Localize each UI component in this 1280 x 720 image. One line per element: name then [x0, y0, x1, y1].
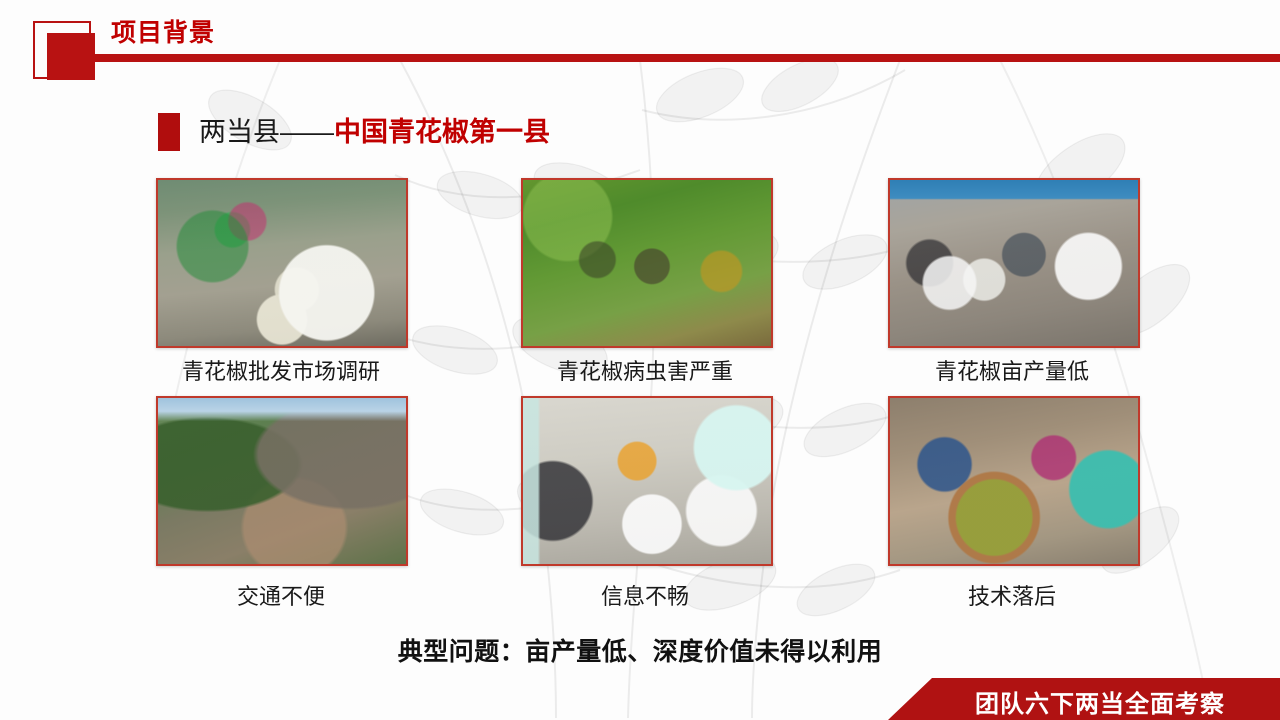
subtitle: 两当县——中国青花椒第一县 [199, 113, 550, 151]
conclusion-text: 典型问题：亩产量低、深度价值未得以利用 [0, 632, 1280, 668]
page-title: 项目背景 [111, 18, 215, 48]
caption-backward-technology: 技术落后 [857, 583, 1167, 611]
photo-backward-technology [888, 396, 1140, 566]
photo-low-yield-per-mu [888, 178, 1140, 348]
subtitle-marker-icon [158, 113, 180, 151]
photo-image [158, 180, 406, 346]
caption-poor-information: 信息不畅 [490, 583, 800, 611]
photo-wholesale-market-survey [156, 178, 408, 348]
subtitle-emphasis: 中国青花椒第一县 [334, 117, 550, 147]
slide-canvas: 项目背景 两当县——中国青花椒第一县 青花椒批发市场调研 青花椒病虫害严重 青花… [0, 0, 1280, 720]
caption-wholesale-market-survey: 青花椒批发市场调研 [126, 358, 436, 386]
photo-image [158, 398, 406, 564]
photo-image [523, 180, 771, 346]
photo-image [890, 398, 1138, 564]
footer-banner-label: 团队六下两当全面考察 [975, 684, 1225, 719]
subtitle-plain: 两当县—— [199, 117, 334, 147]
photo-poor-transport [156, 396, 408, 566]
photo-poor-information [521, 396, 773, 566]
header-rule [84, 54, 1280, 62]
caption-low-yield-per-mu: 青花椒亩产量低 [857, 358, 1167, 386]
photo-pest-damage [521, 178, 773, 348]
caption-pest-damage: 青花椒病虫害严重 [490, 358, 800, 386]
photo-image [523, 398, 771, 564]
photo-image [890, 180, 1138, 346]
caption-poor-transport: 交通不便 [126, 583, 436, 611]
